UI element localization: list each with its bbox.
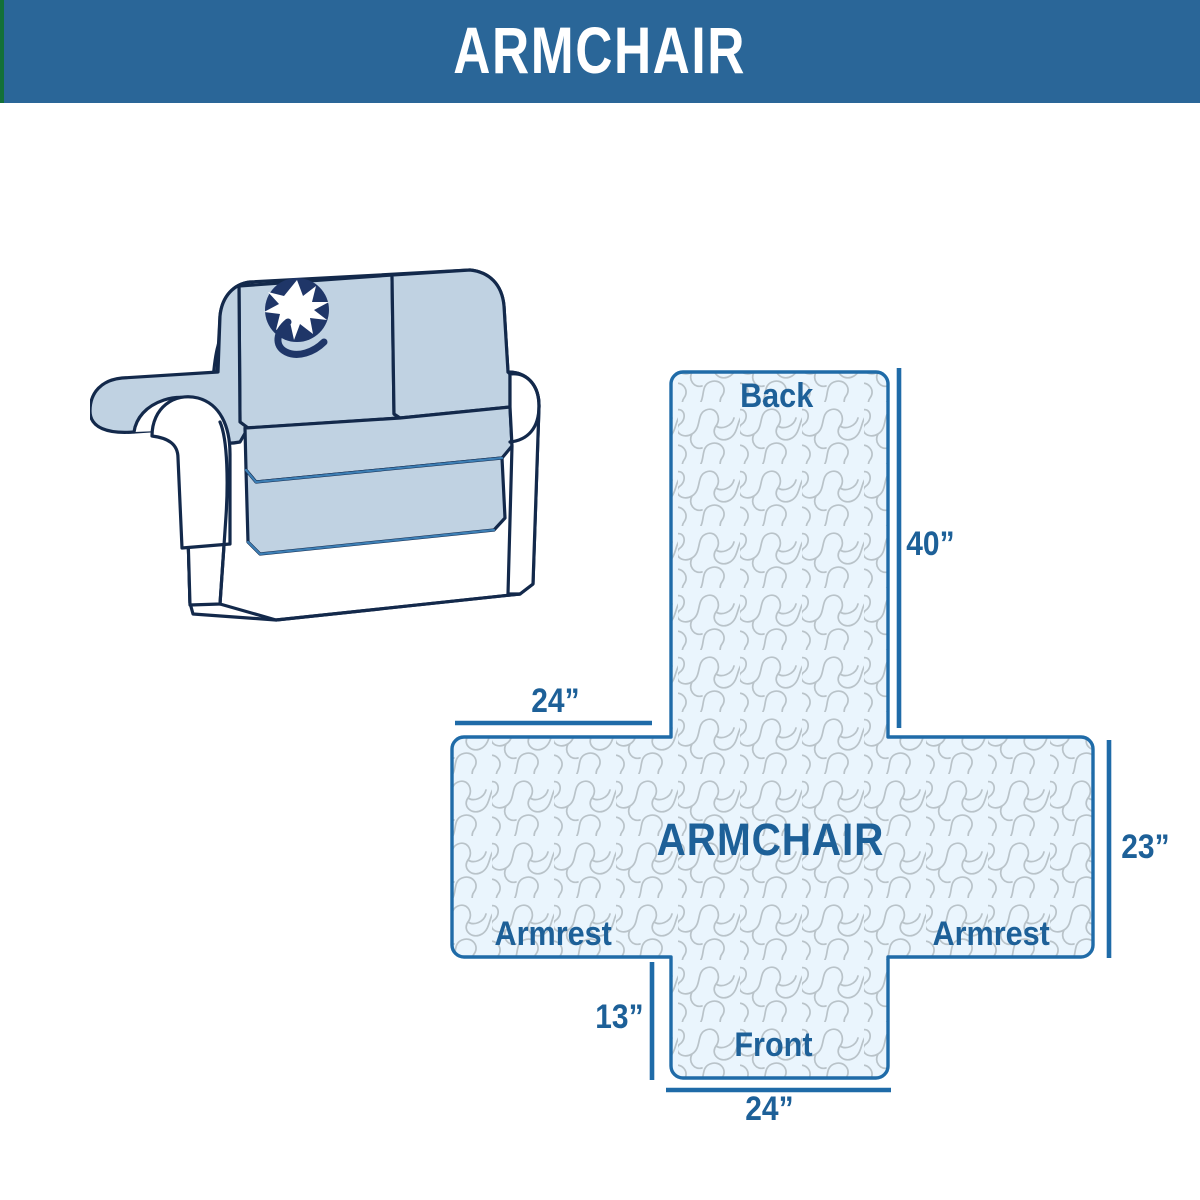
dimension-label-front-width: 24” [745, 1092, 793, 1126]
dimension-label-back-width: 24” [531, 684, 579, 718]
pattern-diagram [430, 340, 1170, 1120]
product-dimension-page: ARMCHAIR [0, 0, 1200, 1200]
panel-label-armchair: ARMCHAIR [657, 817, 885, 862]
page-header: ARMCHAIR [0, 0, 1200, 103]
panel-label-back: Back [740, 379, 813, 413]
panel-label-front: Front [734, 1028, 812, 1062]
page-title: ARMCHAIR [454, 17, 747, 83]
dimension-label-middle-height: 23” [1121, 830, 1169, 864]
dimension-label-front-height: 13” [595, 1000, 643, 1034]
panel-label-armrest-right: Armrest [933, 917, 1050, 951]
dimension-label-back-height: 40” [906, 527, 954, 561]
panel-label-armrest-left: Armrest [495, 917, 612, 951]
header-accent-stripe [0, 0, 4, 103]
slipcover-cross-shape [430, 340, 1170, 1120]
